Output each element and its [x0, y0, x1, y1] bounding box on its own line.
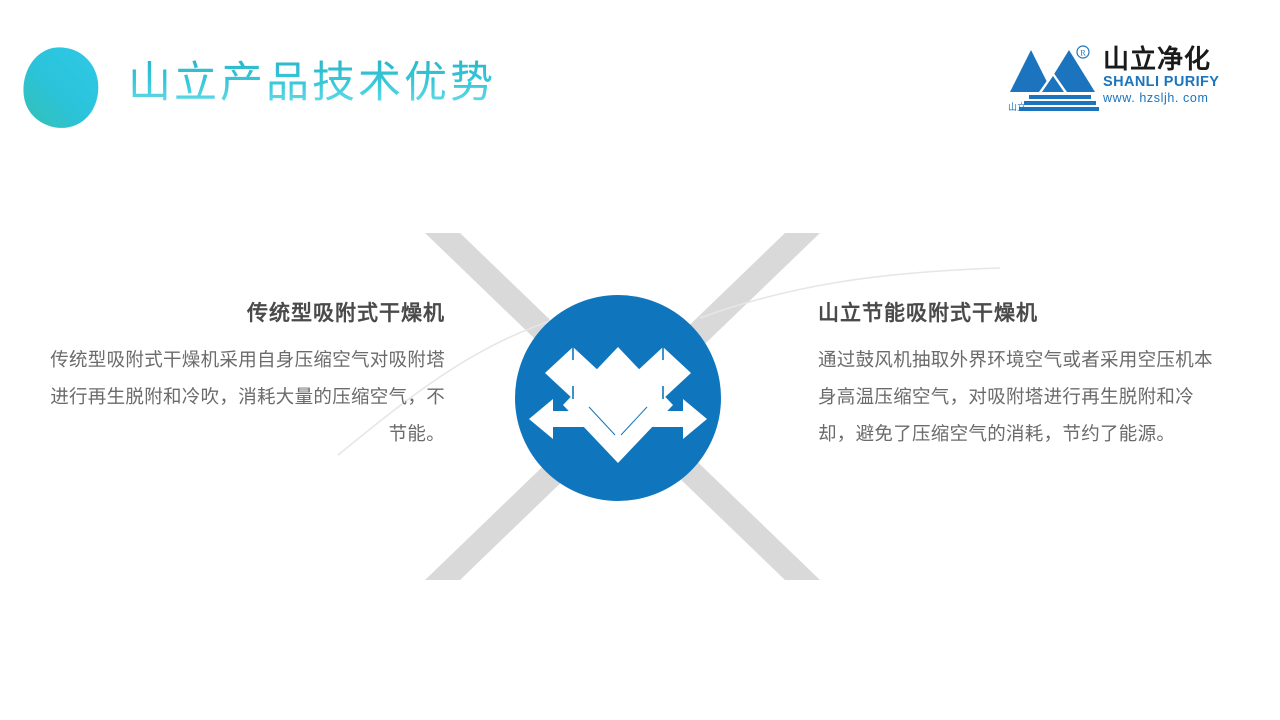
- column-traditional: 传统型吸附式干燥机 传统型吸附式干燥机采用自身压缩空气对吸附塔进行再生脱附和冷吹…: [45, 300, 445, 452]
- slide: 山立产品技术优势 R 山立 山立净化 SHANLI PURIFY www. hz…: [0, 0, 1280, 720]
- column-body: 传统型吸附式干燥机采用自身压缩空气对吸附塔进行再生脱附和冷吹，消耗大量的压缩空气…: [45, 341, 445, 452]
- column-shanli-energy-saving: 山立节能吸附式干燥机 通过鼓风机抽取外界环境空气或者采用空压机本身高温压缩空气，…: [818, 300, 1218, 452]
- diamond-arrows-exchange-icon: [515, 295, 721, 501]
- column-title: 山立节能吸附式干燥机: [818, 300, 1218, 327]
- center-circle-badge: [515, 295, 721, 501]
- column-title: 传统型吸附式干燥机: [45, 300, 445, 327]
- column-body: 通过鼓风机抽取外界环境空气或者采用空压机本身高温压缩空气，对吸附塔进行再生脱附和…: [818, 341, 1218, 452]
